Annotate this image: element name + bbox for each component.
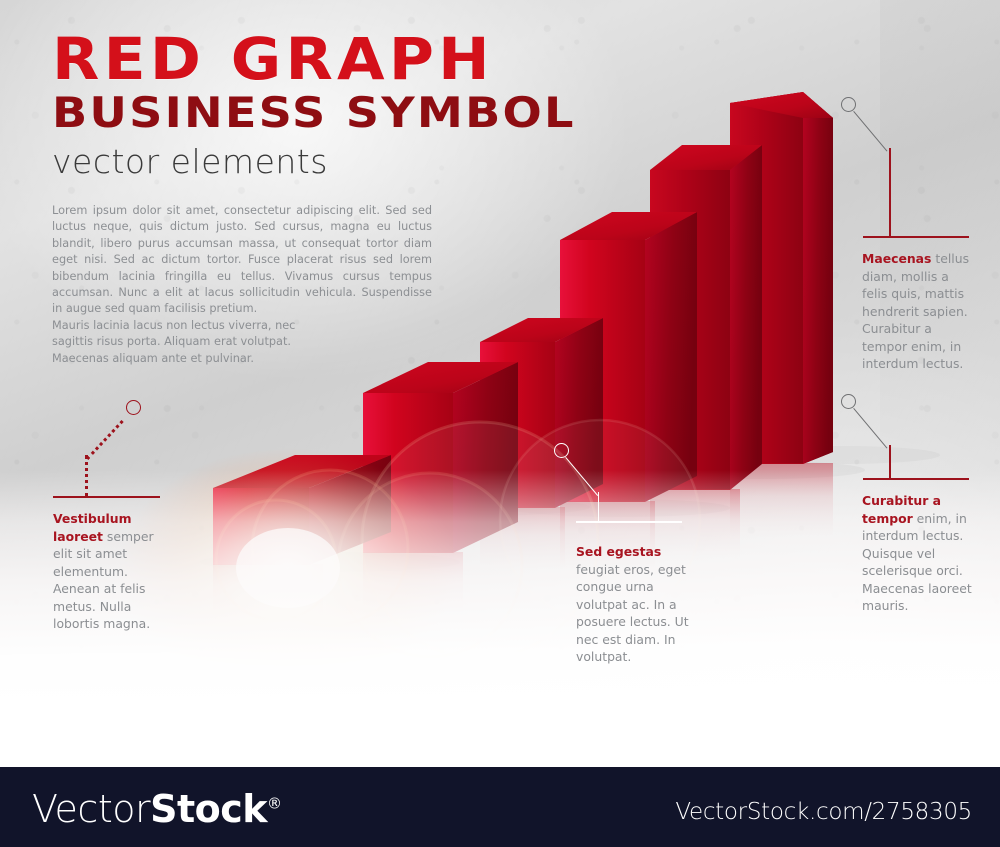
page-subtitle-bold: BUSINESS SYMBOL — [52, 92, 576, 134]
logo-word-light: Vector — [32, 787, 150, 831]
page-title: RED GRAPH — [52, 30, 494, 88]
callout-left-marker-icon[interactable] — [126, 400, 141, 415]
callout-right-top-rule — [863, 236, 969, 238]
watermark-bar: VectorStock® VectorStock.com/2758305 — [0, 767, 1000, 847]
callout-center-heading: Sed egestas — [576, 544, 661, 559]
poster-canvas: RED GRAPH BUSINESS SYMBOL vector element… — [0, 0, 1000, 847]
page-tagline: vector elements — [52, 142, 328, 181]
callout-center-stem — [598, 492, 599, 522]
intro-copy: Lorem ipsum dolor sit amet, consectetur … — [52, 203, 432, 367]
callout-right-bottom-rule — [863, 478, 969, 480]
callout-left-text: Vestibulum laoreet semper elit sit amet … — [53, 510, 165, 633]
vectorstock-logo: VectorStock® — [32, 787, 282, 831]
callout-left-rule — [53, 496, 160, 498]
registered-mark-icon: ® — [267, 794, 282, 812]
callout-center-body: feugiat eros, eget congue urna volutpat … — [576, 562, 689, 665]
intro-paragraph-2: Mauris lacinia lacus non lectus viverra,… — [52, 318, 432, 334]
callout-center-text: Sed egestas feugiat eros, eget congue ur… — [576, 543, 694, 666]
intro-paragraph-4: Maecenas aliquam ante et pulvinar. — [52, 351, 432, 367]
callout-right-bottom-text: Curabitur a tempor enim, in interdum lec… — [862, 492, 974, 615]
callout-left-stem — [85, 455, 88, 497]
callout-right-bottom-stem — [889, 445, 891, 478]
watermark-url: VectorStock.com/2758305 — [675, 799, 972, 825]
callout-right-top-body: tellus diam, mollis a felis quis, mattis… — [862, 251, 969, 371]
callout-right-top-text: Maecenas tellus diam, mollis a felis qui… — [862, 250, 974, 373]
callout-right-top-heading: Maecenas — [862, 251, 931, 266]
artwork-background: RED GRAPH BUSINESS SYMBOL vector element… — [0, 0, 1000, 706]
callout-center-rule — [576, 521, 682, 523]
intro-paragraph-1: Lorem ipsum dolor sit amet, consectetur … — [52, 203, 432, 318]
intro-paragraph-3: sagittis risus porta. Aliquam erat volut… — [52, 334, 432, 350]
logo-word-bold: Stock — [150, 787, 267, 831]
callout-right-top-stem — [889, 148, 891, 237]
callout-center-marker-icon[interactable] — [554, 443, 569, 458]
